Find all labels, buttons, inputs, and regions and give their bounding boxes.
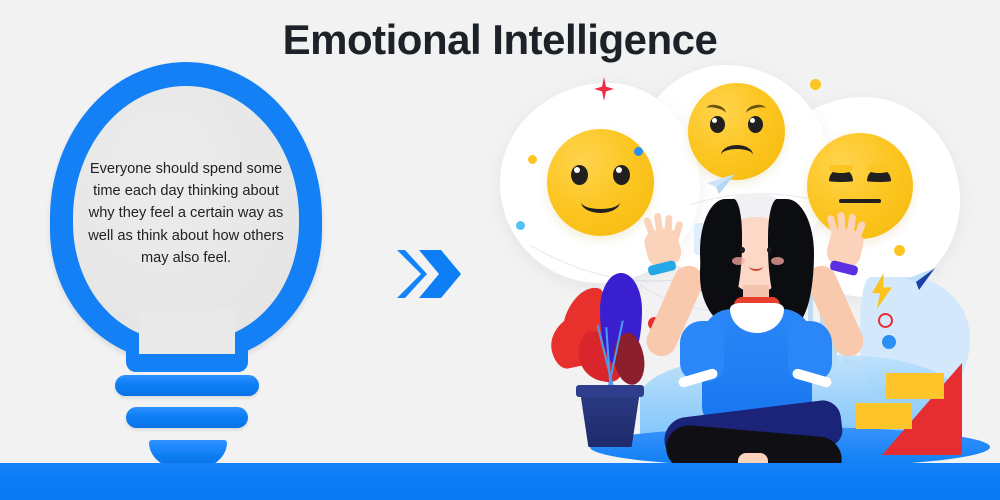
plant-pot bbox=[580, 391, 640, 447]
sad-face-emoji bbox=[688, 83, 785, 180]
bulb-base-bar-2 bbox=[126, 407, 248, 428]
meditating-woman bbox=[640, 185, 870, 445]
sad-eye-right-glint bbox=[750, 118, 755, 123]
dot-yellow-1 bbox=[528, 155, 537, 164]
plant-pot-rim bbox=[576, 385, 644, 397]
bulb-base-bar-1 bbox=[115, 375, 259, 396]
paper-plane-icon bbox=[902, 267, 936, 291]
cheek-left bbox=[732, 257, 745, 265]
yellow-rect-1 bbox=[886, 373, 944, 399]
face-eye-right bbox=[767, 247, 772, 253]
happy-mouth bbox=[581, 191, 620, 213]
sad-brow-left bbox=[705, 103, 727, 119]
sad-eye-left-glint bbox=[712, 118, 717, 123]
finger-left-4 bbox=[671, 220, 683, 241]
light-bulb-graphic: Everyone should spend some time each day… bbox=[38, 62, 338, 467]
chevron-solid-icon bbox=[417, 248, 463, 300]
emotion-illustration bbox=[490, 55, 1000, 465]
ring-red bbox=[878, 313, 893, 328]
dot-blue-3 bbox=[882, 335, 896, 349]
dot-blue-1 bbox=[634, 147, 643, 156]
bulb-neck-inner-fill bbox=[139, 310, 235, 354]
sad-mouth bbox=[721, 145, 753, 165]
sad-brow-right bbox=[745, 103, 767, 119]
dot-cyan-1 bbox=[516, 221, 525, 230]
finger-left-3 bbox=[664, 215, 672, 235]
cheek-right bbox=[771, 257, 784, 265]
face-smile bbox=[749, 261, 763, 271]
double-chevron-right-icon bbox=[395, 248, 463, 300]
happy-eye-right-glint bbox=[616, 167, 622, 173]
face-eye-left bbox=[740, 247, 745, 253]
dot-yellow-2 bbox=[810, 79, 821, 90]
finger-left-2 bbox=[654, 213, 664, 234]
happy-eye-left-glint bbox=[574, 167, 580, 173]
smiling-face-emoji bbox=[547, 129, 654, 236]
dot-yellow-3 bbox=[894, 245, 905, 256]
poster-canvas: Emotional Intelligence Everyone should s… bbox=[0, 0, 1000, 500]
finger-right-2 bbox=[837, 212, 845, 232]
meh-lid-left bbox=[829, 165, 853, 173]
meh-lid-right bbox=[867, 165, 891, 173]
footer-bar bbox=[0, 463, 1000, 500]
quote-text: Everyone should spend some time each day… bbox=[86, 158, 286, 269]
